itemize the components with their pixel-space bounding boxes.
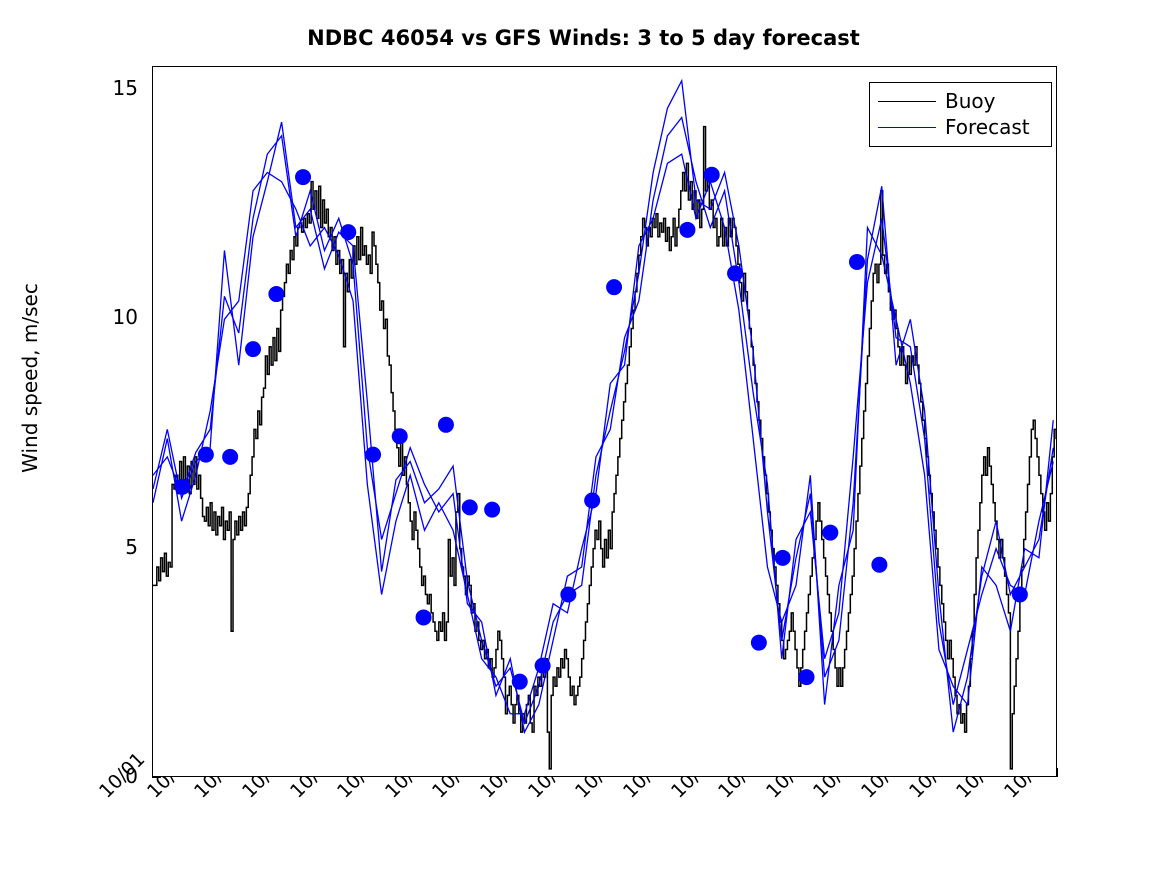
marker-point <box>535 658 551 674</box>
marker-point <box>799 669 815 685</box>
marker-point <box>175 479 191 495</box>
line-swatch-icon <box>878 127 936 128</box>
forecast-line-4day <box>153 117 1053 732</box>
marker-point <box>1012 587 1028 603</box>
y-tick-label: 5 <box>78 535 138 559</box>
plot-area <box>152 66 1057 777</box>
marker-point <box>606 279 622 295</box>
marker-point <box>365 447 381 463</box>
marker-point <box>438 417 454 433</box>
marker-point <box>268 286 284 302</box>
marker-point <box>340 224 356 240</box>
buoy-series <box>153 127 1057 769</box>
forecast-series <box>153 81 1053 732</box>
legend-label-forecast: Forecast <box>945 117 1030 137</box>
y-tick-label: 15 <box>78 76 138 100</box>
marker-point <box>679 222 695 238</box>
legend-item-forecast[interactable]: Forecast <box>878 114 1043 140</box>
marker-point <box>392 428 408 444</box>
marker-point <box>484 502 500 518</box>
legend-item-buoy[interactable]: Buoy <box>878 88 1043 114</box>
legend: Buoy Forecast <box>869 82 1052 147</box>
marker-point <box>560 587 576 603</box>
marker-point <box>751 635 767 651</box>
marker-point <box>871 557 887 573</box>
y-tick-label: 10 <box>78 305 138 329</box>
marker-point <box>245 341 261 357</box>
buoy-step-line <box>153 127 1057 769</box>
y-axis-label: Wind speed, m/sec <box>18 118 42 638</box>
plot-svg <box>153 67 1057 777</box>
marker-point <box>822 525 838 541</box>
marker-point <box>222 449 238 465</box>
marker-point <box>584 492 600 508</box>
marker-point <box>775 550 791 566</box>
marker-point <box>849 254 865 270</box>
marker-point <box>727 265 743 281</box>
marker-point <box>462 499 478 515</box>
marker-point <box>704 167 720 183</box>
marker-point <box>295 169 311 185</box>
figure-canvas: NDBC 46054 vs GFS Winds: 3 to 5 day fore… <box>0 0 1167 875</box>
forecast-line-5day <box>153 154 1053 714</box>
marker-points <box>175 167 1028 690</box>
x-tick-mark <box>1057 768 1058 777</box>
marker-point <box>416 609 432 625</box>
line-swatch-icon <box>878 101 936 102</box>
marker-point <box>512 674 528 690</box>
marker-point <box>198 447 214 463</box>
page-title: NDBC 46054 vs GFS Winds: 3 to 5 day fore… <box>0 26 1167 50</box>
legend-label-buoy: Buoy <box>945 91 995 111</box>
